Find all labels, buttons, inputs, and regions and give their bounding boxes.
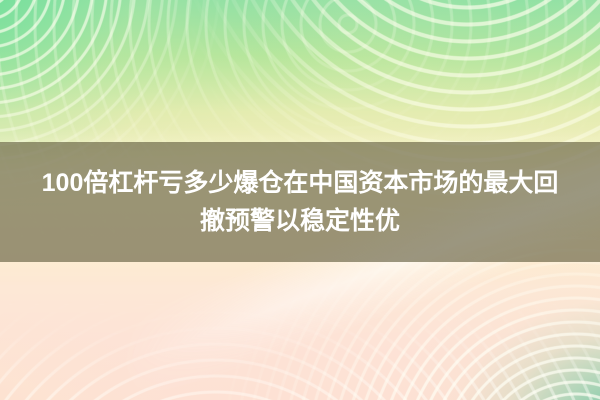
headline-line-1: 100倍杠杆亏多少爆仓在中国资本市场的最大回 — [42, 164, 559, 202]
headline-line-2: 撤预警以稳定性优 — [200, 202, 400, 240]
promotional-banner: 100倍杠杆亏多少爆仓在中国资本市场的最大回 撤预警以稳定性优 — [0, 0, 600, 400]
headline-overlay-band: 100倍杠杆亏多少爆仓在中国资本市场的最大回 撤预警以稳定性优 — [0, 142, 600, 262]
